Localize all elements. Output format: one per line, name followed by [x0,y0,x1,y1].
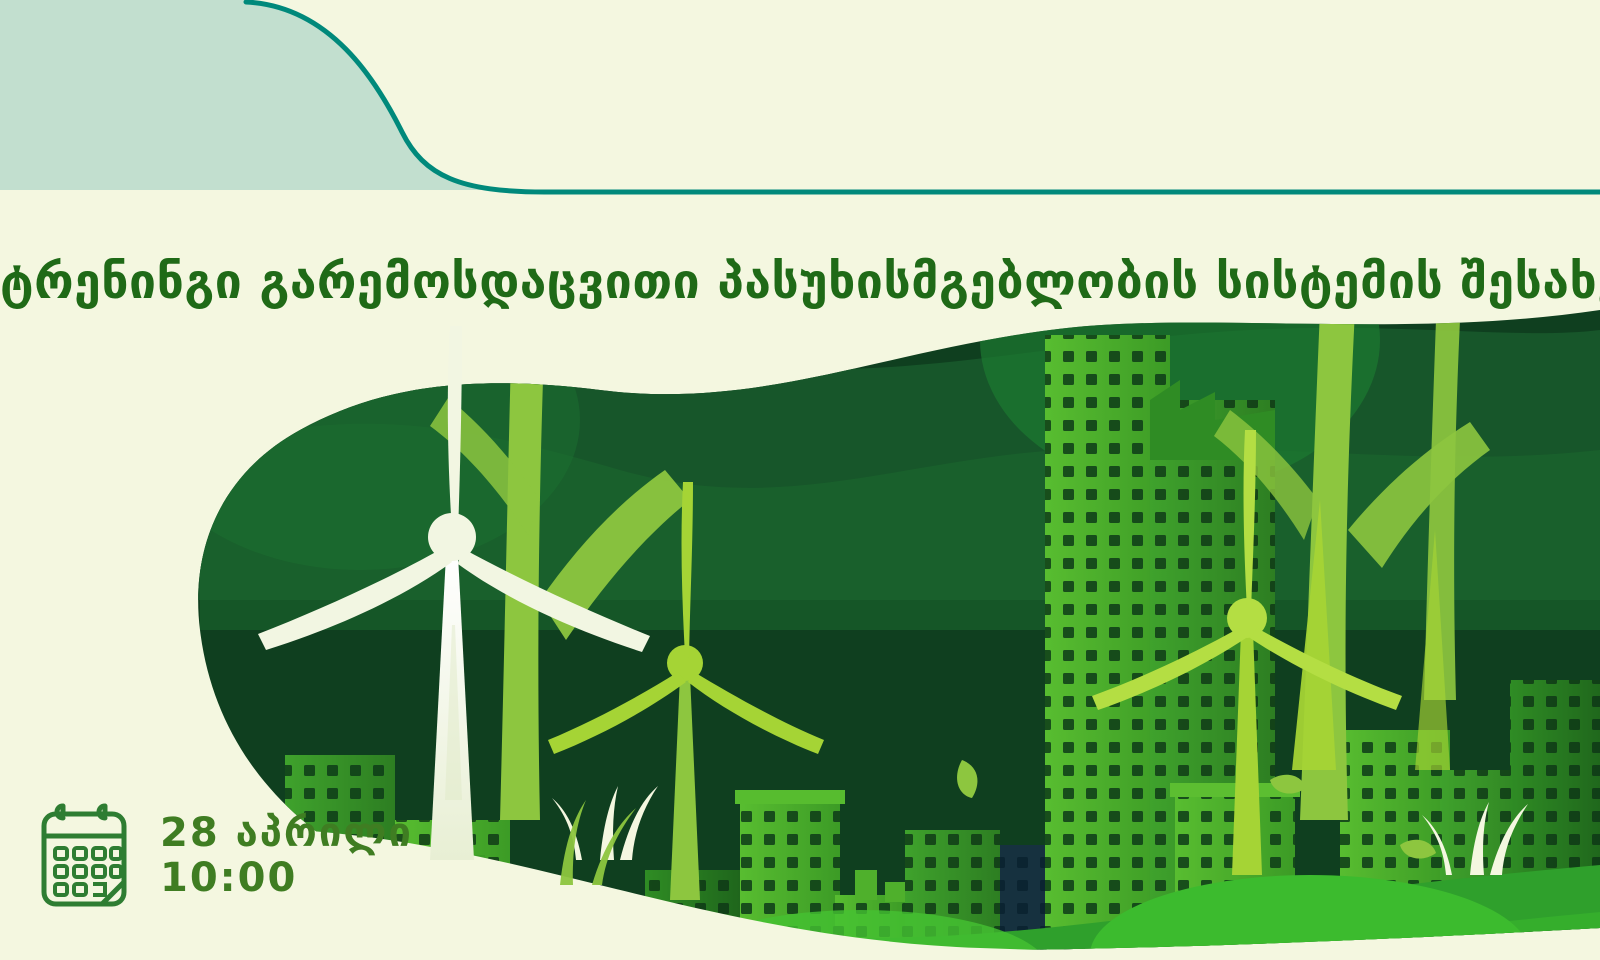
page-title: ტრენინგი გარემოსდაცვითი პასუხისმგებლობის… [0,254,1600,310]
event-time: 10:00 [160,856,413,901]
event-datetime: 28 აპრილი 10:00 [30,800,413,912]
poster-root: საქართველოს გარემოს დაცვისა და სოფლის მე… [0,0,1600,960]
event-datetime-text: 28 აპრილი 10:00 [160,811,413,901]
calendar-icon [30,800,138,912]
event-date: 28 აპრილი [160,811,413,856]
header-band [0,0,1600,200]
